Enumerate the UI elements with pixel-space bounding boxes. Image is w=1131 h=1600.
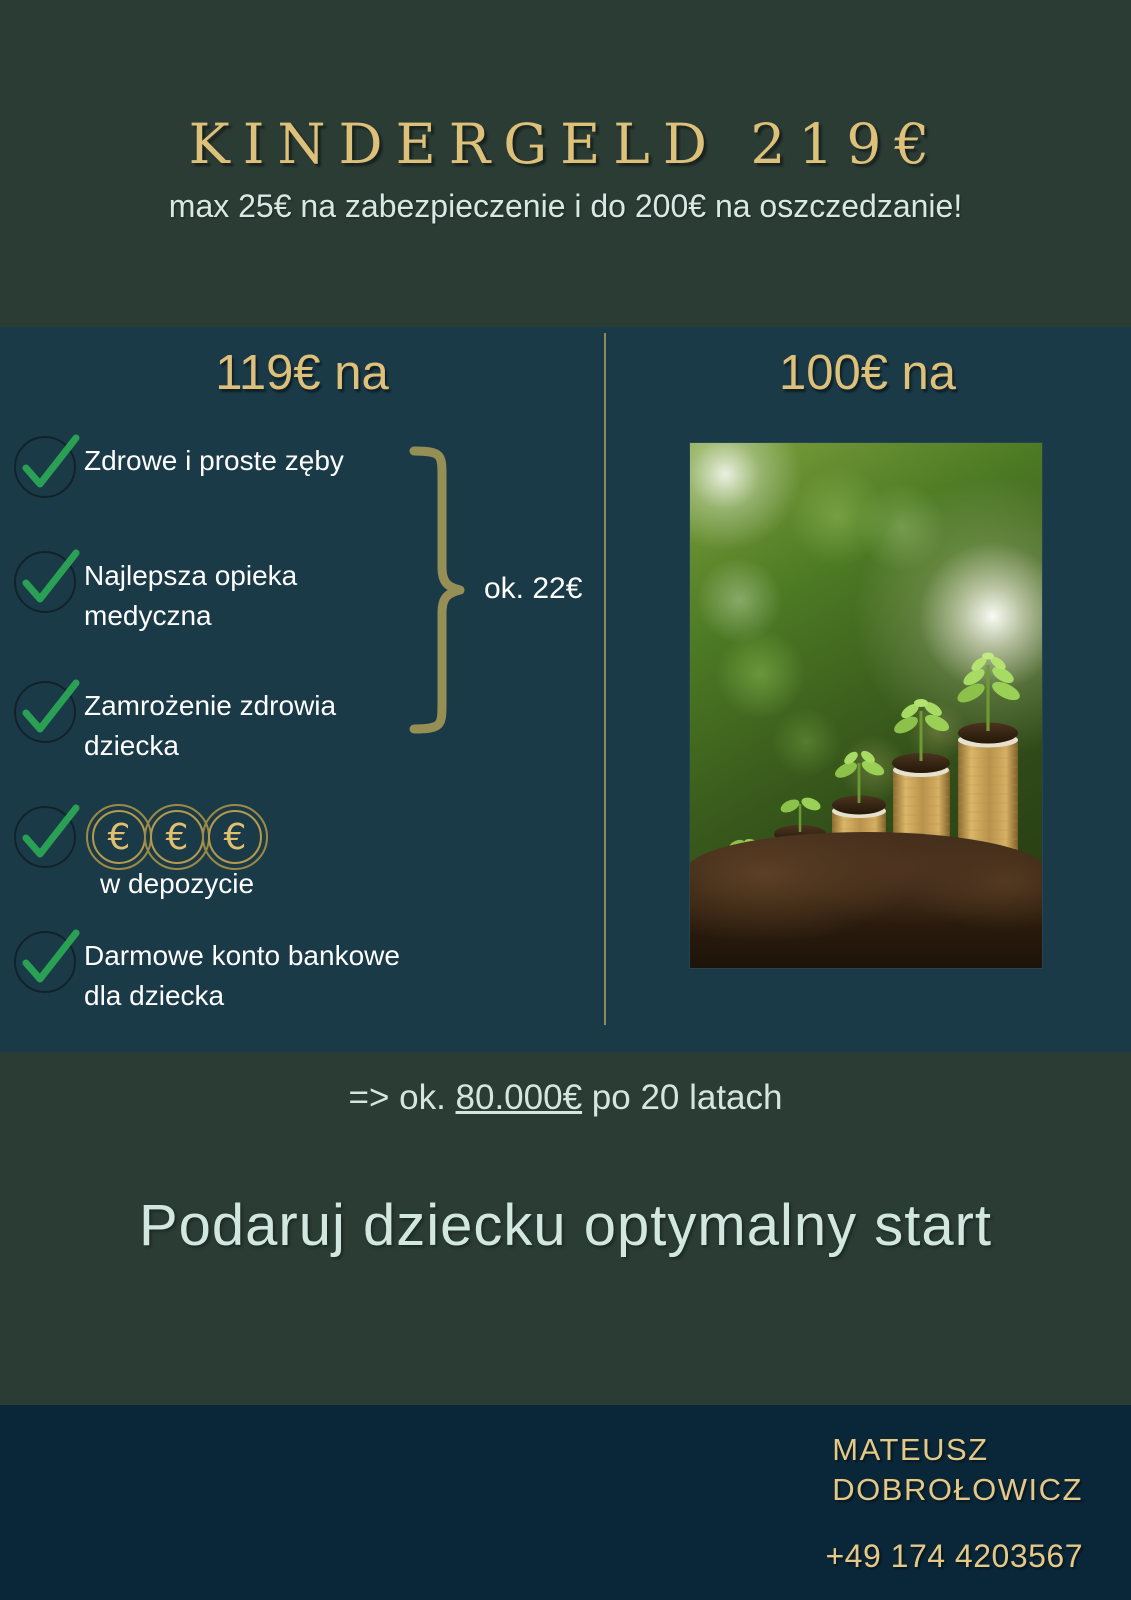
left-column-heading: 119€ na [0,345,604,401]
deposit-caption: w depozycie [100,868,254,900]
check-circle-icon [10,673,84,747]
brace-label: ok. 22€ [484,572,582,606]
list-item-label: Zamrożenie zdrowia dziecka [84,673,336,766]
list-item: Darmowe konto bankowe dla dziecka [0,923,400,1016]
list-item-label: Najlepsza opieka medyczna [84,543,297,636]
column-divider [604,333,606,1025]
footer-phone: +49 174 4203567 [825,1538,1083,1575]
page-title: KINDERGELD 219€ [0,112,1131,176]
deposit-coins: € € € [86,804,260,870]
curly-brace-icon [408,445,478,740]
result-line: => ok. 80.000€ po 20 latach [0,1078,1131,1118]
result-suffix: po 20 latach [582,1078,782,1117]
coins-growth-photo [690,443,1042,968]
list-item: € € € [0,798,260,872]
footer-contact-name: MATEUSZ DOBROŁOWICZ [832,1430,1083,1511]
right-column-heading: 100€ na [604,345,1131,401]
list-item: Najlepsza opieka medyczna [0,543,297,636]
list-item-label: Zdrowe i proste zęby [84,428,344,481]
footer-name-line2: DOBROŁOWICZ [832,1470,1083,1510]
euro-coin-icon: € [86,804,152,870]
tagline: Podaruj dziecku optymalny start [0,1192,1131,1259]
check-circle-icon [10,428,84,502]
result-prefix: => ok. [349,1078,456,1117]
list-item-label: Darmowe konto bankowe dla dziecka [84,923,400,1016]
result-amount: 80.000€ [456,1078,583,1117]
check-circle-icon [10,798,84,872]
list-item: Zamrożenie zdrowia dziecka [0,673,336,766]
soil-ground [690,832,1042,968]
list-item: Zdrowe i proste zęby [0,428,344,502]
euro-coin-icon: € [202,804,268,870]
poster-root: KINDERGELD 219€ max 25€ na zabezpieczeni… [0,0,1131,1600]
euro-coin-icon: € [144,804,210,870]
page-subtitle: max 25€ na zabezpieczenie i do 200€ na o… [0,188,1131,225]
footer-name-line1: MATEUSZ [832,1430,1083,1470]
check-circle-icon [10,923,84,997]
check-circle-icon [10,543,84,617]
